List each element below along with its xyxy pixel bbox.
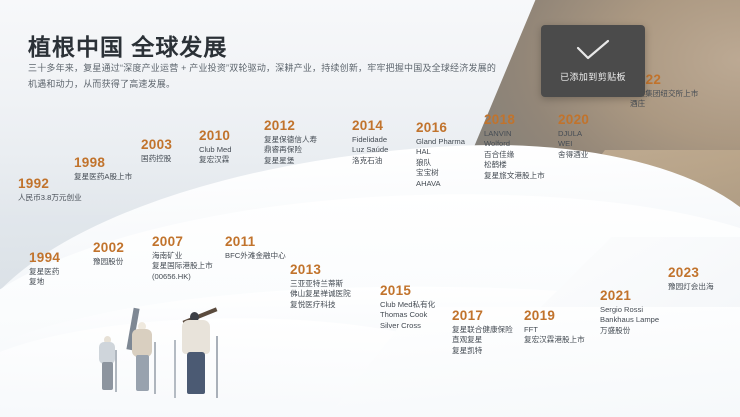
milestone-item: 复星保德信人寿	[264, 135, 317, 145]
clipboard-toast: 已添加到剪贴板	[541, 25, 645, 97]
toast-label: 已添加到剪贴板	[560, 70, 626, 83]
milestone-item: 人民币3.8万元创业	[18, 193, 82, 203]
milestone-item: 鼎睿再保险	[264, 145, 317, 155]
milestone-item: DJULA	[558, 129, 589, 139]
milestone-item: 舍得酒业	[558, 150, 589, 160]
milestone-2013[interactable]: 2013 三亚亚特兰蒂斯 佛山复星禅诚医院 复悦医疗科技	[290, 262, 351, 310]
check-icon	[576, 39, 610, 61]
milestone-item: Sergio Rossi	[600, 305, 659, 315]
milestone-2003[interactable]: 2003 国药控股	[141, 137, 172, 164]
milestone-year: 2015	[380, 283, 435, 299]
milestone-item: 复星星堡	[264, 156, 317, 166]
milestone-year: 2014	[352, 118, 388, 134]
milestone-2021[interactable]: 2021 Sergio Rossi Bankhaus Lampe 万盛股份	[600, 288, 659, 336]
milestone-2002[interactable]: 2002 豫园股份	[93, 240, 124, 267]
page-title: 植根中国 全球发展	[28, 28, 227, 62]
milestone-item: LANVIN	[484, 129, 545, 139]
milestone-item: FFT	[524, 325, 585, 335]
milestone-item: 宝宝树	[416, 168, 465, 178]
milestone-1992[interactable]: 1992 人民币3.8万元创业	[18, 176, 82, 203]
milestone-year: 1992	[18, 176, 82, 192]
milestone-year: 2010	[199, 128, 232, 144]
milestone-item: Silver Cross	[380, 321, 435, 331]
milestone-year: 2020	[558, 112, 589, 128]
milestone-item: AHAVA	[416, 179, 465, 189]
milestone-item: 万盛股份	[600, 326, 659, 336]
milestone-2018[interactable]: 2018 LANVIN Wolford 百合佳缘 松鹤楼 复星旅文港股上市	[484, 112, 545, 181]
milestone-item: 豫园灯会出海	[668, 282, 714, 292]
milestone-item: 佛山复星禅诚医院	[290, 289, 351, 299]
milestone-item: 狼队	[416, 158, 465, 168]
milestone-year: 2016	[416, 120, 465, 136]
milestone-item: Fidelidade	[352, 135, 388, 145]
milestone-2015[interactable]: 2015 Club Med私有化 Thomas Cook Silver Cros…	[380, 283, 435, 331]
milestone-year: 2011	[225, 234, 286, 250]
milestone-1998[interactable]: 1998 复星医药A股上市	[74, 155, 132, 182]
milestone-item: (00656.HK)	[152, 272, 213, 282]
milestone-year: 2017	[452, 308, 513, 324]
slide-canvas: 植根中国 全球发展 三十多年来，复星通过“深度产业运营 + 产业投资”双轮驱动，…	[0, 0, 740, 417]
milestone-item: Gland Pharma	[416, 137, 465, 147]
milestone-2014[interactable]: 2014 Fidelidade Luz Saúde 洛克石油	[352, 118, 388, 166]
milestone-item: 松鹤楼	[484, 160, 545, 170]
milestone-year: 2019	[524, 308, 585, 324]
milestone-item: HAL	[416, 147, 465, 157]
milestone-2023[interactable]: 2023 豫园灯会出海	[668, 265, 714, 292]
milestone-item: 复星凯特	[452, 346, 513, 356]
milestone-item: Club Med私有化	[380, 300, 435, 310]
milestone-item: 复星联合健康保险	[452, 325, 513, 335]
milestone-item: 海南矿业	[152, 251, 213, 261]
milestone-year: 2023	[668, 265, 714, 281]
milestone-item: 百合佳缘	[484, 150, 545, 160]
milestone-2010[interactable]: 2010 Club Med 复宏汉霖	[199, 128, 232, 166]
milestone-item: 国药控股	[141, 154, 172, 164]
milestone-item: Thomas Cook	[380, 310, 435, 320]
milestone-2011[interactable]: 2011 BFC外滩金融中心	[225, 234, 286, 261]
milestone-year: 2002	[93, 240, 124, 256]
milestone-year: 2013	[290, 262, 351, 278]
milestone-2007[interactable]: 2007 海南矿业 复星国际港股上市 (00656.HK)	[152, 234, 213, 282]
milestone-item: 复悦医疗科技	[290, 300, 351, 310]
milestone-item: 复宏汉霖港股上市	[524, 335, 585, 345]
milestone-item: 直观复星	[452, 335, 513, 345]
milestone-item: Club Med	[199, 145, 232, 155]
milestone-item: 复星医药	[29, 267, 60, 277]
milestone-item: 豫园股份	[93, 257, 124, 267]
milestone-year: 2007	[152, 234, 213, 250]
milestone-year: 1998	[74, 155, 132, 171]
page-subtitle: 三十多年来，复星通过“深度产业运营 + 产业投资”双轮驱动，深耕产业，持续创新，…	[28, 60, 498, 92]
milestone-1994[interactable]: 1994 复星医药 复地	[29, 250, 60, 288]
milestone-2019[interactable]: 2019 FFT 复宏汉霖港股上市	[524, 308, 585, 346]
milestone-item: 复地	[29, 277, 60, 287]
milestone-item: 三亚亚特兰蒂斯	[290, 279, 351, 289]
milestone-year: 1994	[29, 250, 60, 266]
milestone-item: Bankhaus Lampe	[600, 315, 659, 325]
milestone-2012[interactable]: 2012 复星保德信人寿 鼎睿再保险 复星星堡	[264, 118, 317, 166]
milestone-year: 2003	[141, 137, 172, 153]
milestone-2020[interactable]: 2020 DJULA WEI 舍得酒业	[558, 112, 589, 160]
milestone-item: BFC外滩金融中心	[225, 251, 286, 261]
milestone-item: Luz Saúde	[352, 145, 388, 155]
milestone-year: 2018	[484, 112, 545, 128]
milestone-item: 酒庄	[630, 99, 698, 109]
milestone-item: 复星医药A股上市	[74, 172, 132, 182]
milestone-2016[interactable]: 2016 Gland Pharma HAL 狼队 宝宝树 AHAVA	[416, 120, 465, 189]
milestone-year: 2012	[264, 118, 317, 134]
milestone-item: 复星旅文港股上市	[484, 171, 545, 181]
milestone-year: 2021	[600, 288, 659, 304]
milestone-2017[interactable]: 2017 复星联合健康保险 直观复星 复星凯特	[452, 308, 513, 356]
milestone-item: 洛克石油	[352, 156, 388, 166]
milestone-item: 复宏汉霖	[199, 155, 232, 165]
milestone-item: Wolford	[484, 139, 545, 149]
milestone-item: 复星国际港股上市	[152, 261, 213, 271]
milestone-item: WEI	[558, 139, 589, 149]
